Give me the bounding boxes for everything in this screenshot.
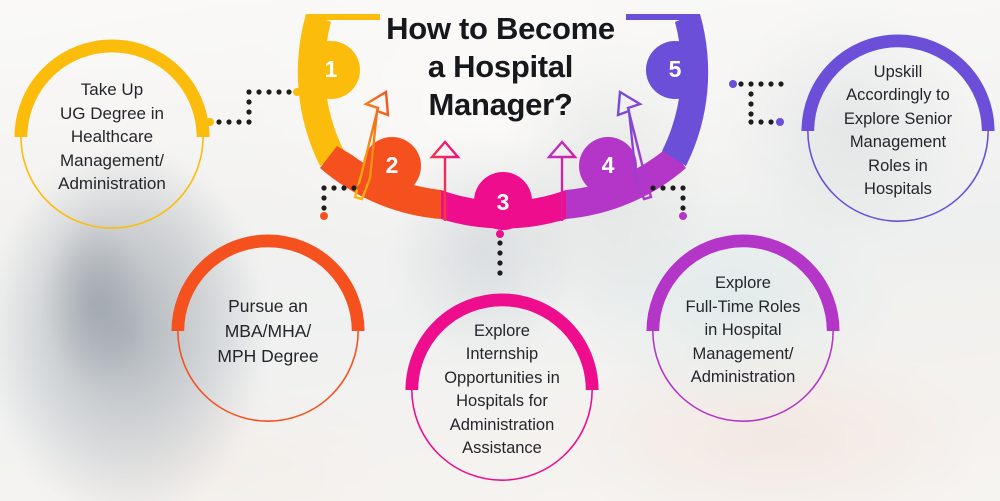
step-circle-3[interactable]: Explore Internship Opportunities in Hosp… — [404, 292, 600, 488]
step-circle-4[interactable]: Explore Full-Time Roles in Hospital Mana… — [645, 233, 841, 429]
step-5-label: Upskill Accordingly to Explore Senior Ma… — [816, 33, 981, 229]
step-4-label: Explore Full-Time Roles in Hospital Mana… — [661, 233, 826, 429]
infographic-canvas: Take Up UG Degree in Healthcare Manageme… — [0, 0, 1000, 501]
step-1-label: Take Up UG Degree in Healthcare Manageme… — [29, 38, 195, 236]
step-circle-1[interactable]: Take Up UG Degree in Healthcare Manageme… — [13, 38, 211, 236]
dotted-connector-left-upper — [206, 88, 301, 126]
step-2-label: Pursue an MBA/MHA/ MPH Degree — [186, 233, 351, 429]
page-title-line-2: a Hospital — [343, 48, 658, 86]
step-number-1: 1 — [316, 58, 346, 81]
step-circle-5[interactable]: Upskill Accordingly to Explore Senior Ma… — [800, 33, 996, 229]
dotted-connector-center — [496, 230, 504, 276]
page-title-line-3: Manager? — [343, 86, 658, 124]
page-title-line-1: How to Become — [343, 10, 658, 48]
arc-segment-2 — [320, 137, 441, 219]
step-number-5: 5 — [660, 58, 690, 81]
dotted-connector-left-lower — [320, 184, 365, 220]
step-number-4: 4 — [593, 154, 623, 177]
step-number-2: 2 — [377, 154, 407, 177]
dotted-connector-right-upper — [729, 80, 784, 126]
step-number-3: 3 — [488, 191, 518, 214]
dotted-connector-right-lower — [642, 184, 687, 220]
page-title: How to Become a Hospital Manager? — [343, 10, 658, 124]
step-circle-2[interactable]: Pursue an MBA/MHA/ MPH Degree — [170, 233, 366, 429]
step-3-label: Explore Internship Opportunities in Hosp… — [420, 292, 585, 488]
